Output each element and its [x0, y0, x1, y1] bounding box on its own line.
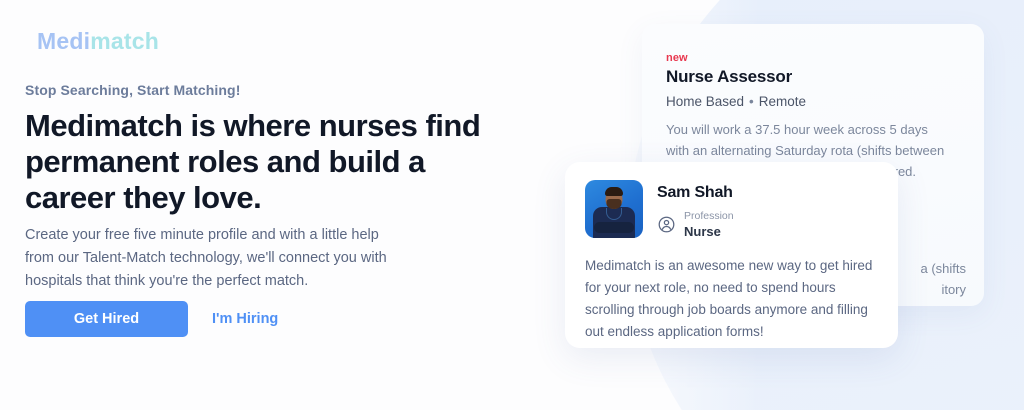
brand-logo-secondary: match [90, 28, 159, 54]
avatar [585, 180, 643, 238]
user-circle-icon [657, 215, 676, 234]
job-location: Home Based [666, 94, 744, 109]
job-work-type: Remote [759, 94, 806, 109]
hero-tagline: Stop Searching, Start Matching! [25, 82, 240, 98]
profession-label: Profession [684, 210, 734, 223]
job-meta: Home Based•Remote [666, 94, 960, 109]
testimonial-header: Sam Shah Profession Nurse [585, 180, 878, 239]
profession-text: Profession Nurse [684, 210, 734, 239]
hero-cta-row: Get Hired I'm Hiring [25, 301, 278, 337]
brand-logo[interactable]: Medimatch [37, 28, 159, 55]
job-title: Nurse Assessor [666, 67, 960, 87]
avatar-crossed-arms [594, 222, 634, 233]
testimonial-quote: Medimatch is an awesome new way to get h… [585, 255, 877, 343]
avatar-hair [605, 187, 623, 196]
hero-subcopy: Create your free five minute profile and… [25, 224, 395, 293]
page-title: Medimatch is where nurses find permanent… [25, 108, 495, 216]
brand-logo-primary: Medi [37, 28, 90, 54]
profession-row: Profession Nurse [657, 210, 734, 239]
avatar-beard [607, 199, 622, 209]
hero-section: Medimatch Stop Searching, Start Matching… [25, 0, 495, 410]
job-card-content: new Nurse Assessor Home Based•Remote You… [642, 24, 984, 182]
meta-separator-dot: • [749, 94, 754, 109]
get-hired-button[interactable]: Get Hired [25, 301, 188, 337]
im-hiring-link[interactable]: I'm Hiring [212, 311, 278, 327]
testimonial-identity: Sam Shah Profession Nurse [657, 180, 734, 239]
profession-value: Nurse [684, 224, 734, 240]
testimonial-card[interactable]: Sam Shah Profession Nurse Medimatch is a… [565, 162, 898, 348]
testimonial-name: Sam Shah [657, 184, 734, 202]
status-badge: new [666, 52, 960, 64]
